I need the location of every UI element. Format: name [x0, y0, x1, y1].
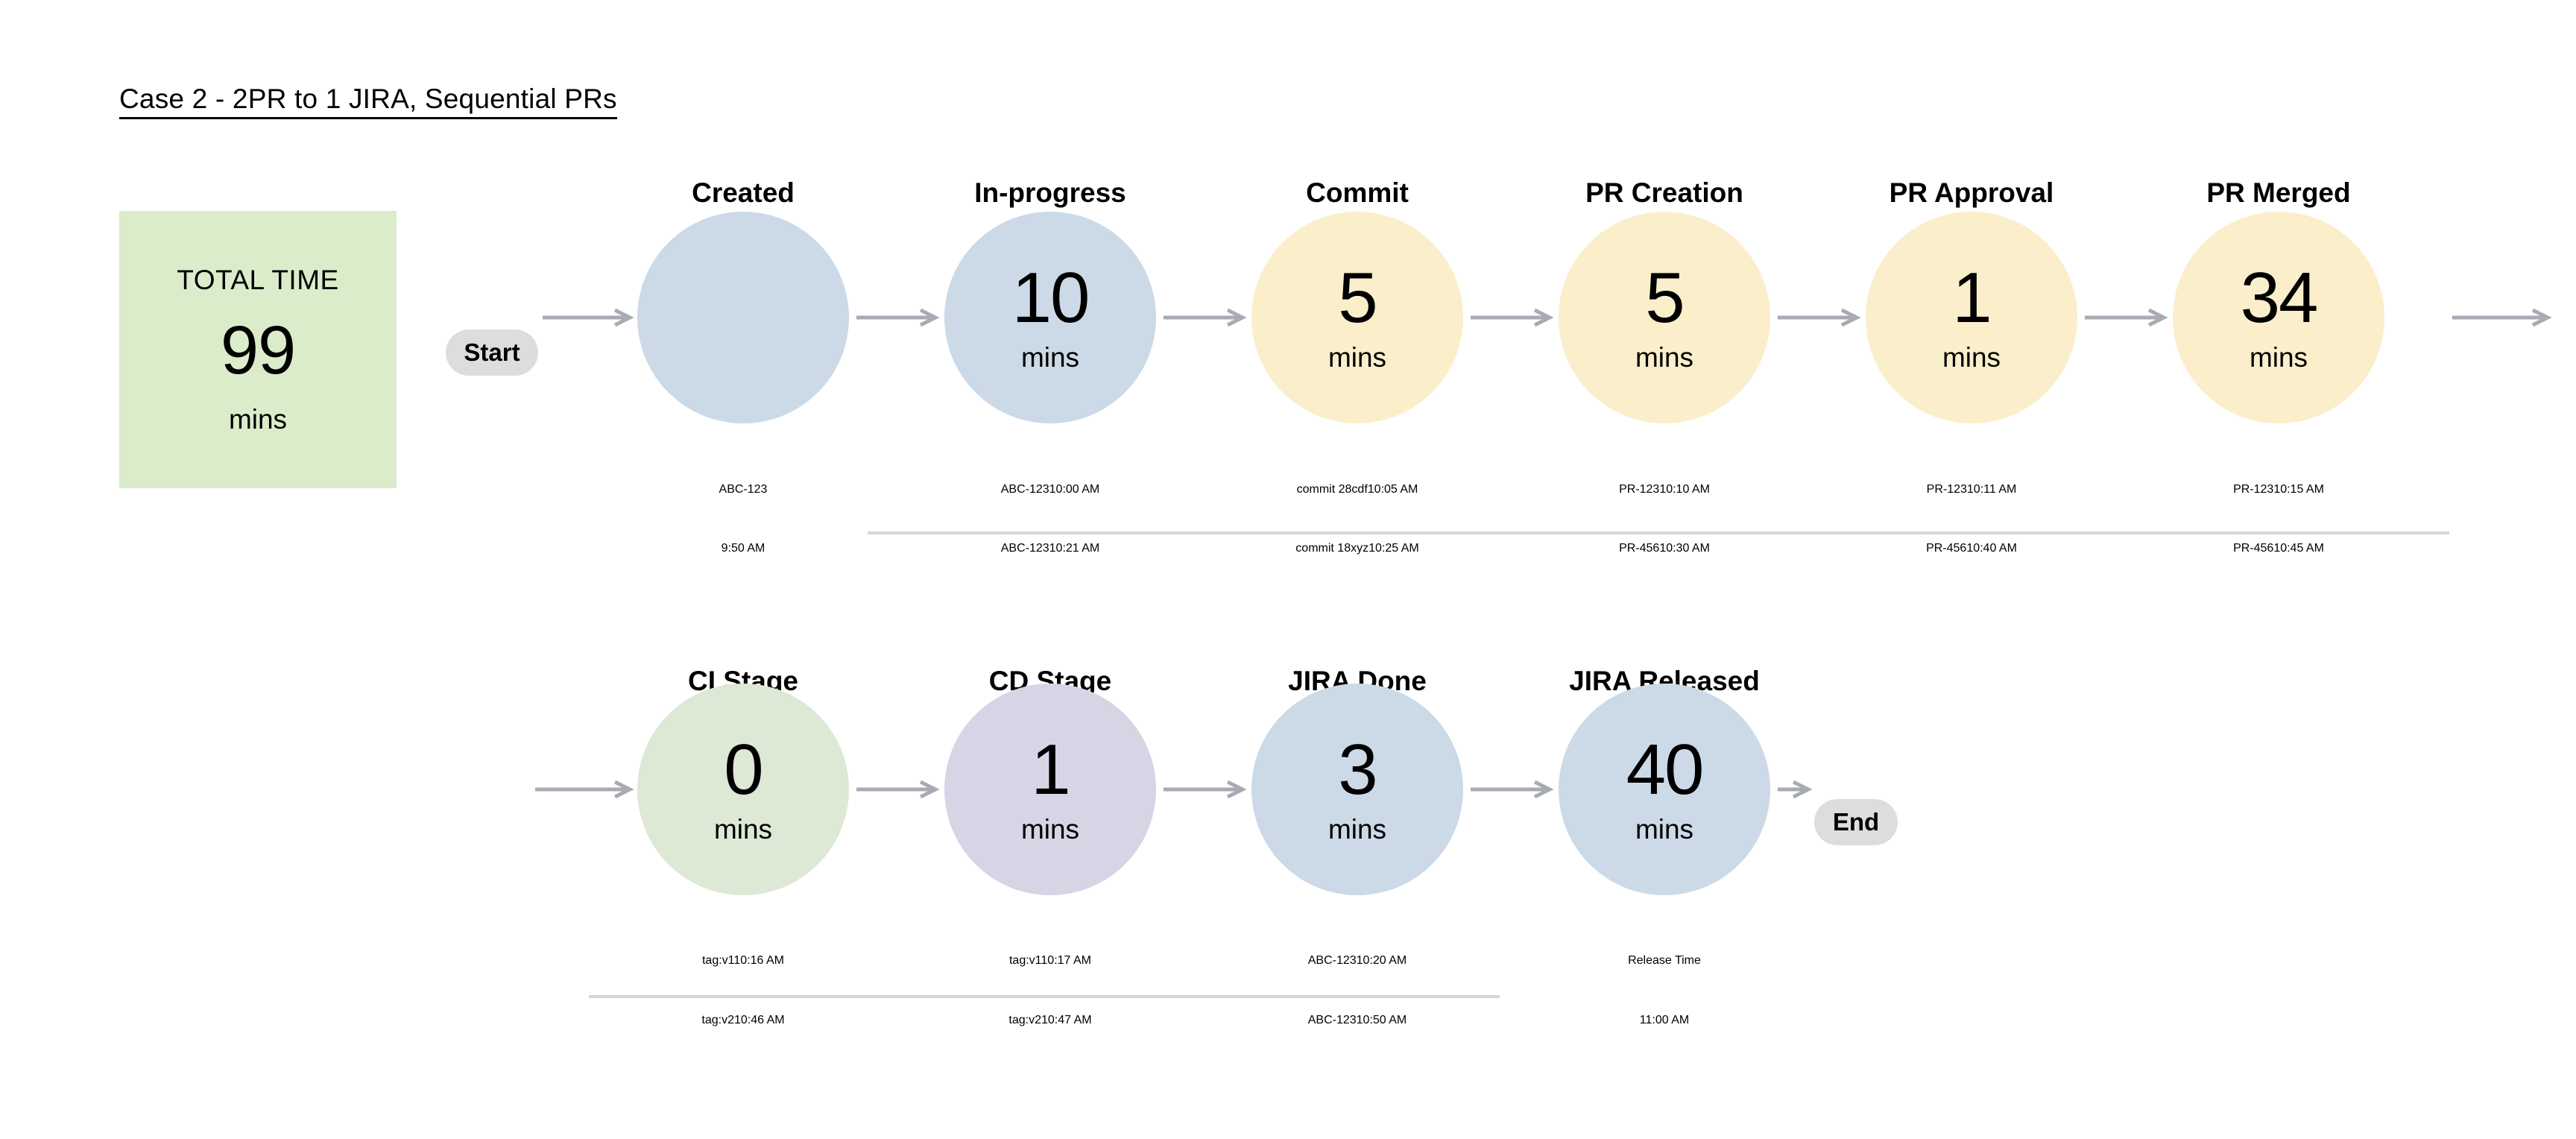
caption-divider-row-2	[589, 995, 1500, 998]
total-time-value: 99	[221, 316, 295, 385]
stage-title: Commit	[1251, 179, 1463, 206]
caption-line: ABC-12310:21 AM	[924, 542, 1177, 555]
stage-circle: 40mins	[1559, 684, 1770, 895]
total-time-unit: mins	[229, 406, 287, 433]
stage-title: In-progress	[944, 179, 1156, 206]
caption-line: tag:v110:16 AM	[616, 954, 870, 968]
stage-caption-secondary: 9:50 AM	[616, 542, 870, 555]
stage-duration-value: 40	[1626, 736, 1703, 804]
stage-duration-value: 5	[1645, 264, 1683, 332]
caption-line: PR-12310:10 AM	[1538, 483, 1791, 496]
caption-token: 10:05 AM	[1368, 483, 1418, 496]
caption-token: tag:v1	[1009, 954, 1041, 967]
stage-caption-primary: commit 28cdf10:05 AM	[1231, 483, 1484, 496]
flow-arrow	[1471, 780, 1551, 798]
stage-title: PR Merged	[2173, 179, 2384, 206]
end-node: End	[1814, 799, 1898, 845]
stage-caption-primary: ABC-12310:00 AM	[924, 483, 1177, 496]
page-title: Case 2 - 2PR to 1 JIRA, Sequential PRs	[119, 83, 617, 119]
stage-title: PR Creation	[1559, 179, 1770, 206]
stage-circle: 5mins	[1559, 212, 1770, 423]
stage-circle: 1mins	[944, 684, 1156, 895]
caption-token: commit 18xyz	[1295, 542, 1368, 555]
caption-token: 10:17 AM	[1041, 954, 1091, 967]
stage-circle: 34mins	[2173, 212, 2384, 423]
flow-arrow	[543, 309, 631, 326]
caption-line: PR-45610:45 AM	[2152, 542, 2405, 555]
stage-caption-primary: ABC-123	[616, 483, 870, 496]
caption-token: 10:20 AM	[1357, 954, 1407, 967]
caption-token: PR-123	[2233, 483, 2273, 496]
caption-line: 9:50 AM	[616, 542, 870, 555]
stage-caption-primary: Release Time	[1538, 954, 1791, 968]
caption-token: 10:00 AM	[1049, 483, 1100, 496]
stage-duration-value: 0	[724, 736, 762, 804]
stage-caption-secondary: commit 18xyz10:25 AM	[1231, 542, 1484, 555]
caption-token: PR-123	[1619, 483, 1659, 496]
caption-token: 10:25 AM	[1368, 542, 1419, 555]
stage-caption-primary: tag:v110:17 AM	[924, 954, 1177, 968]
caption-token: Release Time	[1628, 954, 1701, 967]
flow-arrow	[1471, 309, 1551, 326]
stage-duration-unit: mins	[1021, 815, 1079, 843]
stage-circle	[637, 212, 849, 423]
caption-token: 10:10 AM	[1659, 483, 1710, 496]
caption-line: PR-12310:11 AM	[1845, 483, 2098, 496]
flow-arrow	[2452, 309, 2549, 326]
flow-arrow	[1778, 780, 1810, 798]
stage-circle: 1mins	[1866, 212, 2077, 423]
caption-line: commit 18xyz10:25 AM	[1231, 542, 1484, 555]
stage-caption-primary: PR-12310:11 AM	[1845, 483, 2098, 496]
caption-divider-row-1	[868, 531, 2449, 534]
stage-circle: 10mins	[944, 212, 1156, 423]
caption-token: 10:21 AM	[1049, 542, 1100, 555]
caption-line: ABC-12310:50 AM	[1231, 1014, 1484, 1027]
caption-token: tag:v1	[702, 954, 733, 967]
caption-line: PR-12310:15 AM	[2152, 483, 2405, 496]
stage-duration-unit: mins	[1942, 344, 2001, 371]
total-time-label: TOTAL TIME	[177, 266, 338, 294]
caption-token: tag:v2	[701, 1014, 734, 1026]
stage-caption-secondary: PR-45610:45 AM	[2152, 542, 2405, 555]
stage-duration-unit: mins	[1635, 815, 1693, 843]
caption-line: tag:v110:17 AM	[924, 954, 1177, 968]
stage-caption-primary: PR-12310:10 AM	[1538, 483, 1791, 496]
caption-token: ABC-123	[1001, 542, 1049, 555]
stage-caption-primary: tag:v110:16 AM	[616, 954, 870, 968]
caption-token: 10:45 AM	[2273, 542, 2324, 555]
stage-title: Created	[637, 179, 849, 206]
stage-duration-unit: mins	[1021, 344, 1079, 371]
caption-token: 10:30 AM	[1659, 542, 1710, 555]
flow-arrow	[856, 780, 937, 798]
caption-token: 10:50 AM	[1357, 1014, 1407, 1026]
stage-title: PR Approval	[1866, 179, 2077, 206]
flow-arrow	[856, 309, 937, 326]
caption-token: commit 28cdf	[1297, 483, 1368, 496]
caption-line: commit 28cdf10:05 AM	[1231, 483, 1484, 496]
caption-token: PR-456	[1619, 542, 1659, 555]
caption-line: PR-45610:40 AM	[1845, 542, 2098, 555]
stage-caption-secondary: tag:v210:46 AM	[616, 1014, 870, 1027]
caption-token: PR-123	[1927, 483, 1967, 496]
stage-duration-value: 1	[1031, 736, 1069, 804]
caption-token: PR-456	[1926, 542, 1966, 555]
stage-circle: 0mins	[637, 684, 849, 895]
total-time-card: TOTAL TIME 99 mins	[119, 211, 397, 488]
stage-caption-secondary: PR-45610:40 AM	[1845, 542, 2098, 555]
stage-duration-unit: mins	[1635, 344, 1693, 371]
caption-token: ABC-123	[1001, 483, 1049, 496]
caption-line: 11:00 AM	[1538, 1014, 1791, 1027]
flow-arrow	[535, 780, 631, 798]
caption-line: ABC-123	[616, 483, 870, 496]
caption-line: ABC-12310:20 AM	[1231, 954, 1484, 968]
flow-arrow	[2085, 309, 2165, 326]
caption-token: PR-456	[2233, 542, 2273, 555]
stage-duration-unit: mins	[714, 815, 772, 843]
caption-token: 10:15 AM	[2273, 483, 2324, 496]
caption-token: ABC-123	[1308, 954, 1357, 967]
stage-duration-unit: mins	[1328, 815, 1386, 843]
caption-token: ABC-123	[719, 483, 768, 496]
stage-duration-unit: mins	[1328, 344, 1386, 371]
flow-arrow	[1778, 309, 1858, 326]
caption-line: tag:v210:46 AM	[616, 1014, 870, 1027]
caption-token: ABC-123	[1308, 1014, 1357, 1026]
caption-token: 11:00 AM	[1640, 1014, 1689, 1026]
caption-line: tag:v210:47 AM	[924, 1014, 1177, 1027]
caption-token: 10:46 AM	[734, 1014, 785, 1026]
stage-duration-value: 10	[1012, 264, 1089, 332]
stage-caption-secondary: ABC-12310:21 AM	[924, 542, 1177, 555]
stage-circle: 5mins	[1251, 212, 1463, 423]
caption-token: 9:50 AM	[722, 542, 765, 555]
caption-token: 10:47 AM	[1041, 1014, 1092, 1026]
start-node: Start	[446, 329, 538, 376]
caption-line: ABC-12310:00 AM	[924, 483, 1177, 496]
stage-caption-secondary: tag:v210:47 AM	[924, 1014, 1177, 1027]
stage-duration-unit: mins	[2250, 344, 2308, 371]
caption-token: 10:40 AM	[1966, 542, 2017, 555]
caption-token: tag:v2	[1008, 1014, 1041, 1026]
flow-arrow	[1164, 309, 1244, 326]
caption-token: 10:11 AM	[1967, 483, 2016, 496]
caption-token: 10:16 AM	[733, 954, 784, 967]
caption-line: PR-45610:30 AM	[1538, 542, 1791, 555]
stage-duration-value: 1	[1952, 264, 1990, 332]
stage-caption-secondary: ABC-12310:50 AM	[1231, 1014, 1484, 1027]
flow-arrow	[1164, 780, 1244, 798]
stage-caption-secondary: 11:00 AM	[1538, 1014, 1791, 1027]
stage-caption-primary: PR-12310:15 AM	[2152, 483, 2405, 496]
stage-duration-value: 34	[2241, 264, 2317, 332]
stage-duration-value: 3	[1338, 736, 1376, 804]
stage-circle: 3mins	[1251, 684, 1463, 895]
stage-duration-value: 5	[1338, 264, 1376, 332]
caption-line: Release Time	[1538, 954, 1791, 968]
stage-caption-primary: ABC-12310:20 AM	[1231, 954, 1484, 968]
stage-caption-secondary: PR-45610:30 AM	[1538, 542, 1791, 555]
